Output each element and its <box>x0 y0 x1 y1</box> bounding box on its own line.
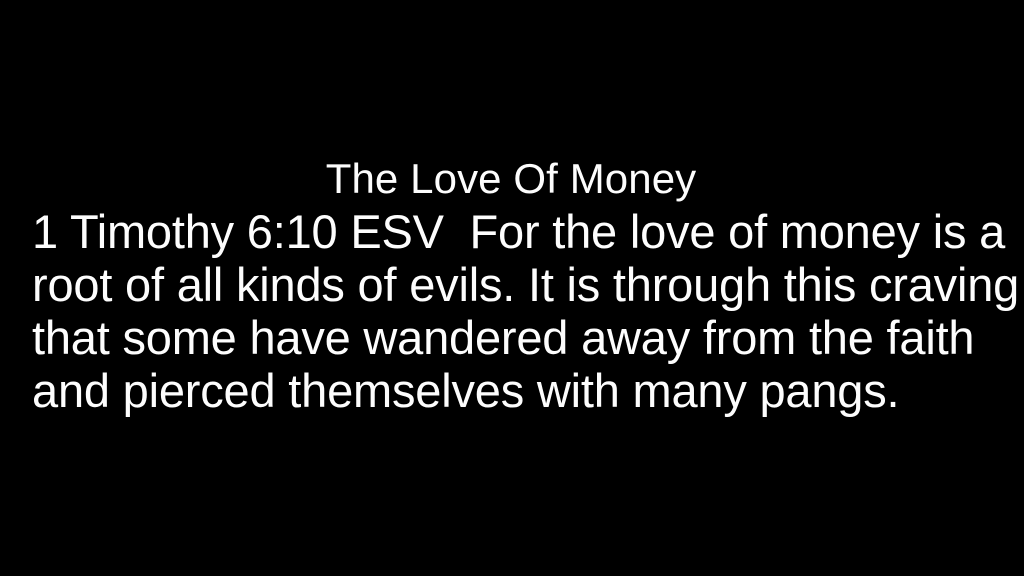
slide-text-block: The Love Of Money 1 Timothy 6:10 ESV For… <box>0 152 1024 417</box>
scripture-line-2: root of all kinds of evils. It is throug… <box>32 258 994 311</box>
scripture-line-1: 1 Timothy 6:10 ESV For the love of money… <box>32 205 994 258</box>
slide-title: The Love Of Money <box>32 152 994 205</box>
scripture-line-4: and pierced themselves with many pangs. <box>32 364 994 417</box>
scripture-line-3: that some have wandered away from the fa… <box>32 311 994 364</box>
presentation-slide: The Love Of Money 1 Timothy 6:10 ESV For… <box>0 0 1024 576</box>
